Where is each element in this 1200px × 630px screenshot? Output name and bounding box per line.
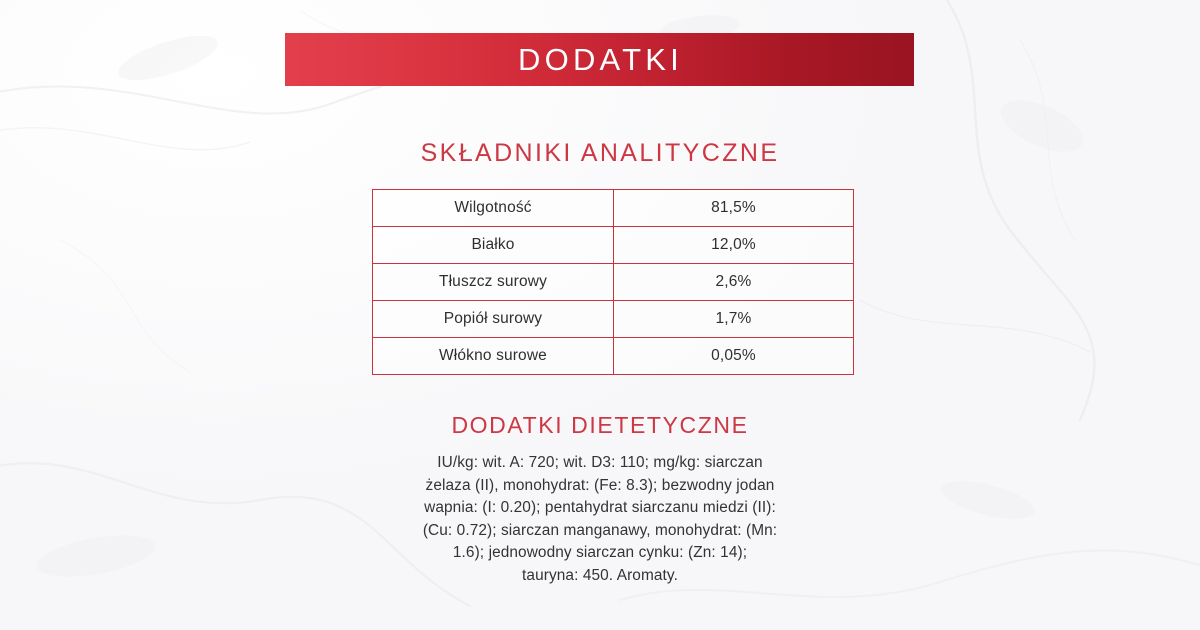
nutrient-label: Białko [373,227,614,264]
nutrient-label: Włókno surowe [373,338,614,375]
dietary-line: 1.6); jednowodny siarczan cynku: (Zn: 14… [360,542,840,565]
table-row: Wilgotność 81,5% [373,190,854,227]
header-banner: DODATKI [285,33,914,86]
table-body: Wilgotność 81,5% Białko 12,0% Tłuszcz su… [373,190,854,375]
table-row: Białko 12,0% [373,227,854,264]
dietary-line: (Cu: 0.72); siarczan manganawy, monohydr… [360,520,840,543]
nutrient-label: Popiół surowy [373,301,614,338]
table-row: Tłuszcz surowy 2,6% [373,264,854,301]
banner-title: DODATKI [518,44,683,75]
dietary-line: żelaza (II), monohydrat: (Fe: 8.3); bezw… [360,475,840,498]
nutrient-value: 0,05% [614,338,854,375]
nutrient-value: 1,7% [614,301,854,338]
dietary-line: tauryna: 450. Aromaty. [360,565,840,588]
nutrient-value: 12,0% [614,227,854,264]
dietary-line: IU/kg: wit. A: 720; wit. D3: 110; mg/kg:… [360,452,840,475]
table-row: Włókno surowe 0,05% [373,338,854,375]
dietary-section-heading: DODATKI DIETETYCZNE [0,412,1200,439]
nutrient-label: Tłuszcz surowy [373,264,614,301]
analytical-section-heading: SKŁADNIKI ANALITYCZNE [0,139,1200,168]
dietary-line: wapnia: (I: 0.20); pentahydrat siarczanu… [360,497,840,520]
dodatki-infographic: DODATKI SKŁADNIKI ANALITYCZNE Wilgotność… [0,0,1200,630]
nutrient-value: 81,5% [614,190,854,227]
dietary-additives-text: IU/kg: wit. A: 720; wit. D3: 110; mg/kg:… [360,452,840,588]
nutrient-value: 2,6% [614,264,854,301]
analytical-constituents-table: Wilgotność 81,5% Białko 12,0% Tłuszcz su… [372,189,854,375]
nutrient-label: Wilgotność [373,190,614,227]
table-row: Popiół surowy 1,7% [373,301,854,338]
